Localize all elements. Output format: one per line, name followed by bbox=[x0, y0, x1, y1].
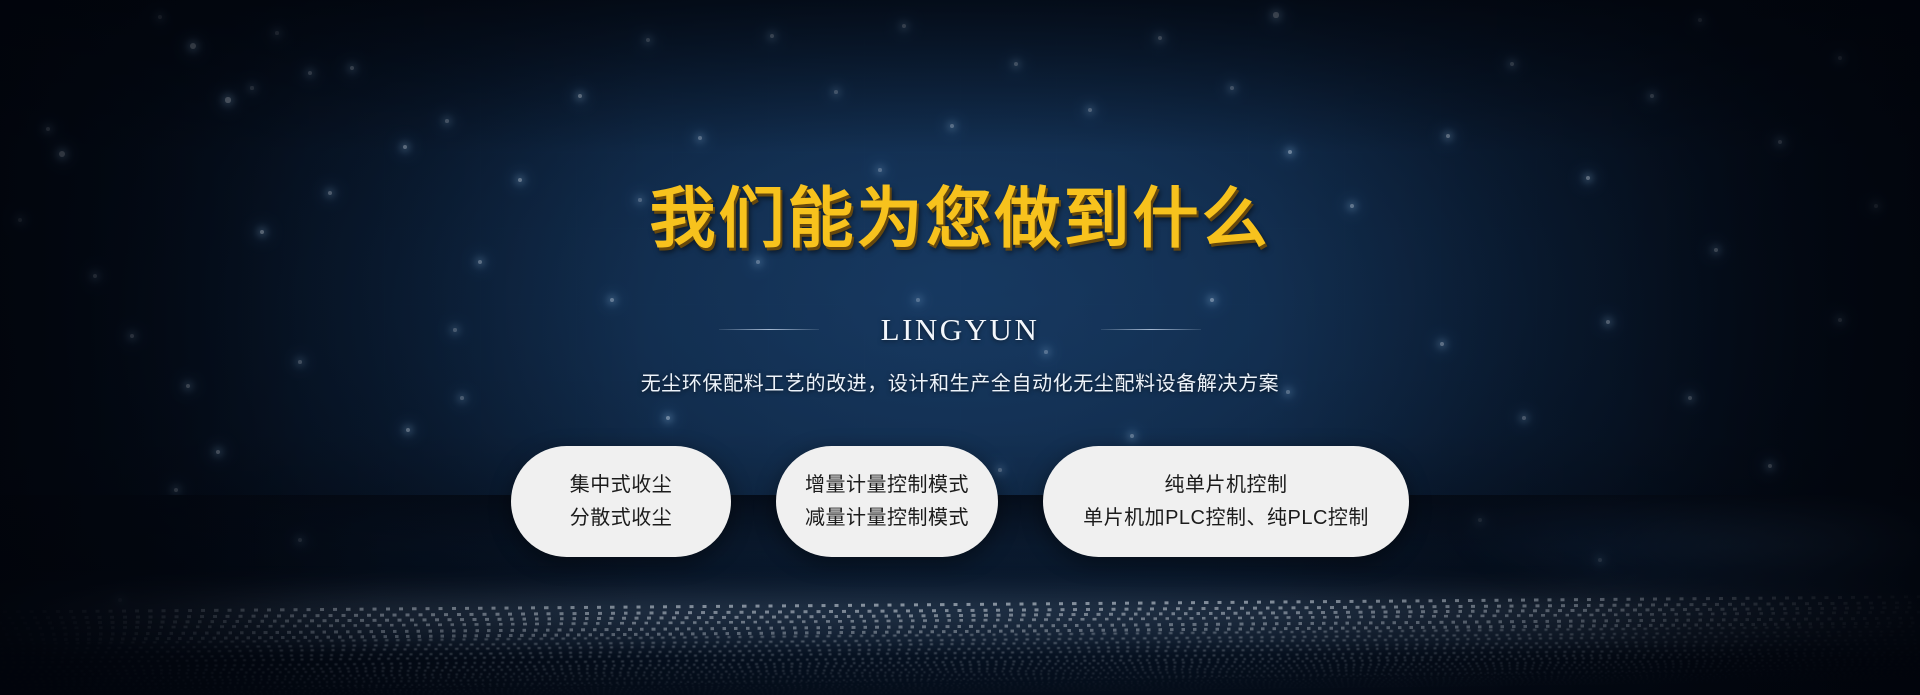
feature-pill-line: 增量计量控制模式 bbox=[805, 475, 969, 495]
hero-banner: 我们能为您做到什么 LINGYUN 无尘环保配料工艺的改进，设计和生产全自动化无… bbox=[0, 0, 1920, 695]
banner-description: 无尘环保配料工艺的改进，设计和生产全自动化无尘配料设备解决方案 bbox=[641, 367, 1280, 396]
banner-headline: 我们能为您做到什么 bbox=[650, 186, 1271, 252]
divider-line-right bbox=[1101, 329, 1201, 330]
feature-pill-line: 分散式收尘 bbox=[570, 508, 673, 528]
feature-pill-line: 减量计量控制模式 bbox=[805, 508, 969, 528]
brand-name: LINGYUN bbox=[881, 314, 1040, 345]
feature-pill-metering-control-mode[interactable]: 增量计量控制模式减量计量控制模式 bbox=[776, 446, 998, 557]
feature-pill-line: 集中式收尘 bbox=[570, 475, 673, 495]
divider-line-left bbox=[719, 329, 819, 330]
feature-pill-controller-options[interactable]: 纯单片机控制单片机加PLC控制、纯PLC控制 bbox=[1043, 446, 1409, 557]
brand-subtitle-row: LINGYUN bbox=[719, 314, 1202, 345]
feature-pill-dust-collection[interactable]: 集中式收尘分散式收尘 bbox=[511, 446, 731, 557]
banner-content: 我们能为您做到什么 LINGYUN 无尘环保配料工艺的改进，设计和生产全自动化无… bbox=[0, 0, 1920, 695]
feature-pill-line: 纯单片机控制 bbox=[1165, 475, 1288, 495]
feature-pill-line: 单片机加PLC控制、纯PLC控制 bbox=[1083, 508, 1369, 528]
feature-pill-group: 集中式收尘分散式收尘增量计量控制模式减量计量控制模式纯单片机控制单片机加PLC控… bbox=[511, 446, 1409, 557]
